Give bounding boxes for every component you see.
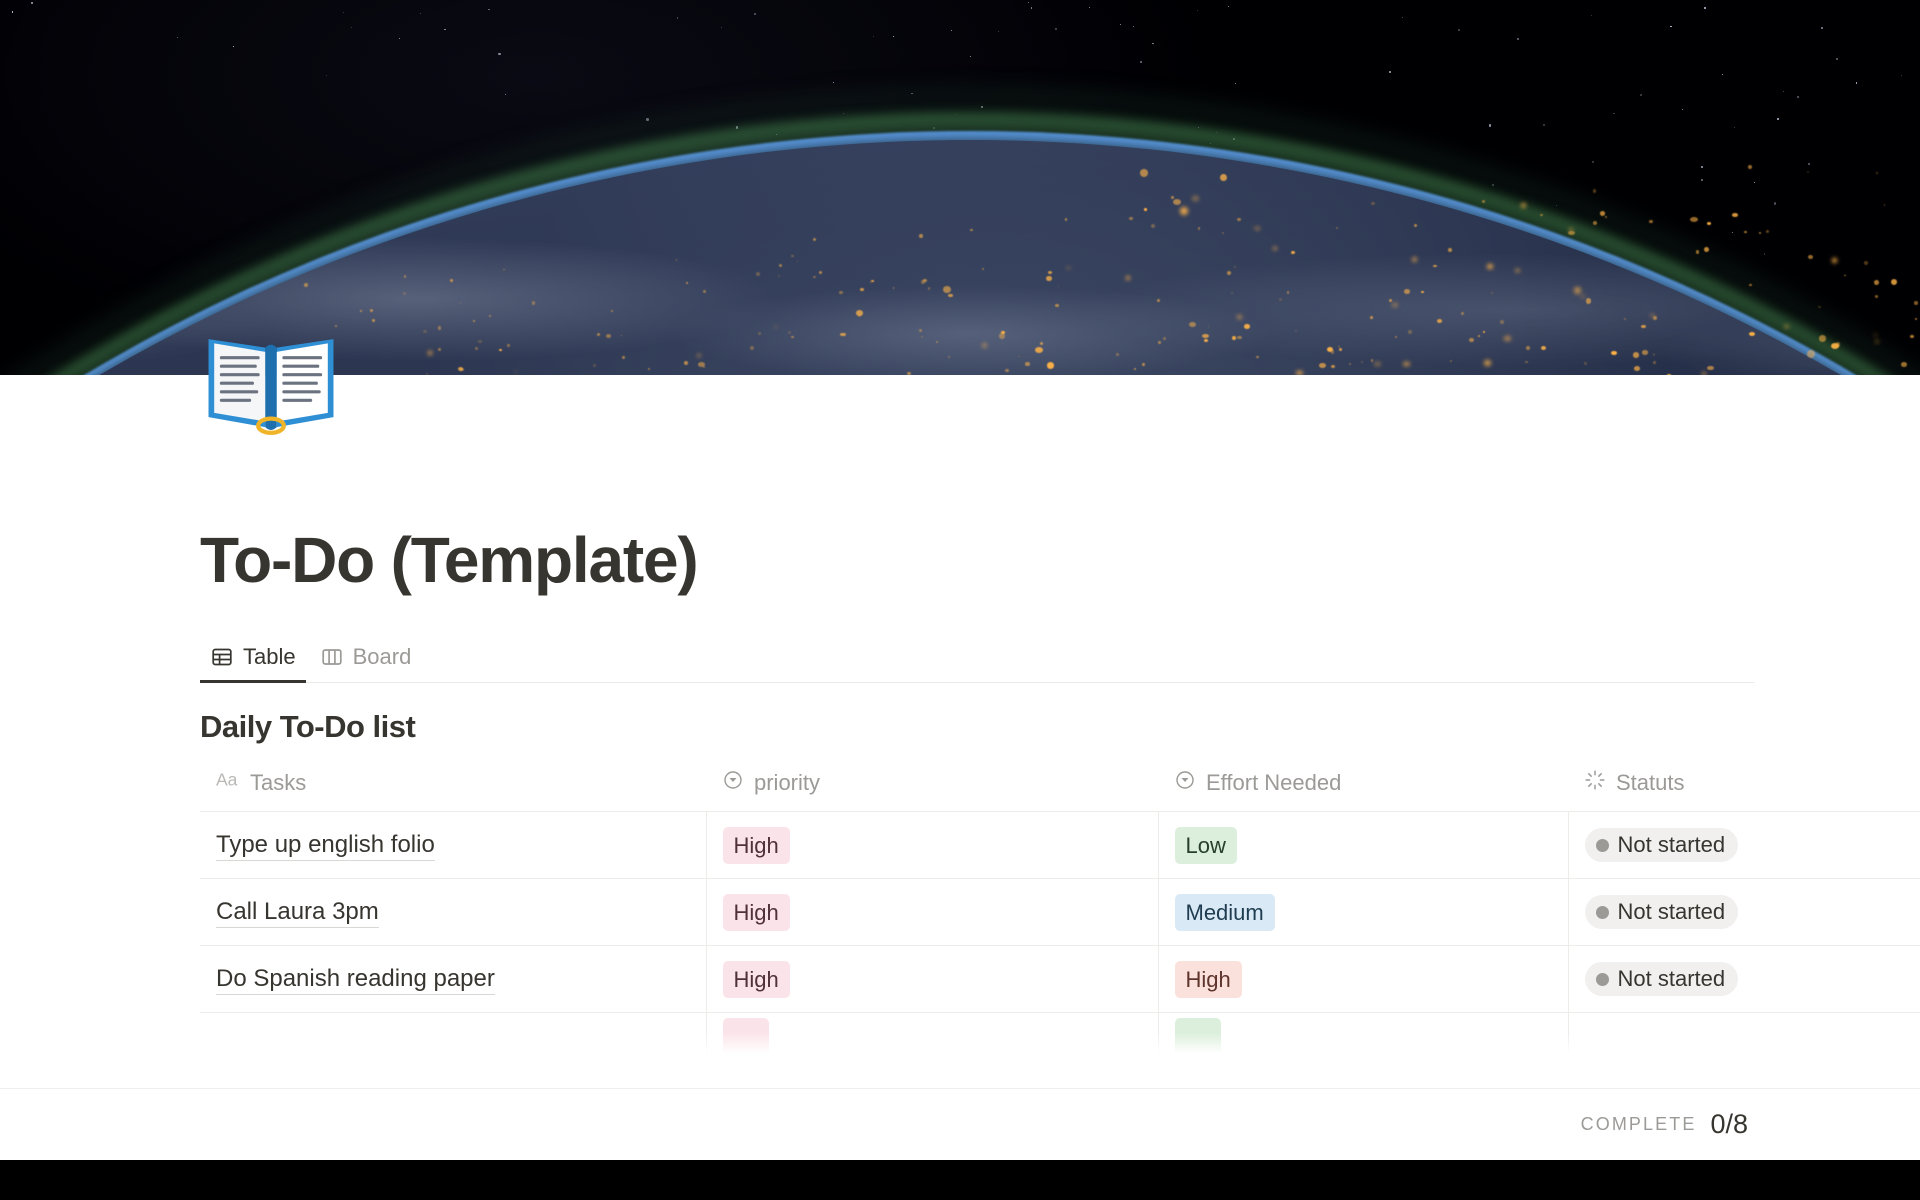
cell-effort[interactable]: Medium [1158,879,1568,946]
status-label: Not started [1618,832,1726,858]
notion-page: To-Do (Template) Table [0,0,1920,1200]
cell-task[interactable]: Call Laura 3pm [200,879,706,946]
column-header-tasks-label: Tasks [250,770,306,796]
open-book-emoji-glyph [200,305,342,447]
complete-label: COMPLETE [1581,1114,1697,1135]
cell-priority[interactable]: High [706,812,1158,879]
tab-board[interactable]: Board [310,638,422,682]
table-row[interactable]: Type up english folio High Low [200,812,1920,879]
viewport-letterbox [0,1160,1920,1200]
status-label: Not started [1618,966,1726,992]
column-header-priority[interactable]: priority [706,761,1158,812]
task-link[interactable]: Do Spanish reading paper [216,965,495,995]
column-header-tasks[interactable]: Aa Tasks [200,761,706,812]
table-header-row: Aa Tasks [200,761,1920,812]
column-header-statuts[interactable]: Statuts [1568,761,1920,812]
database-title[interactable]: Daily To-Do list [200,709,1755,745]
effort-chip: Low [1175,827,1237,864]
cell-effort[interactable]: Low [1158,812,1568,879]
column-header-effort-label: Effort Needed [1206,770,1341,796]
select-icon [722,769,744,797]
status-dot-icon [1596,906,1609,919]
database-table: Aa Tasks [200,761,1920,1059]
status-badge: Not started [1585,962,1739,996]
cell-priority[interactable] [706,1013,1158,1059]
status-spinner-icon [1584,769,1606,797]
tab-table[interactable]: Table [200,638,306,682]
effort-chip: Medium [1175,894,1275,931]
cell-effort[interactable]: High [1158,946,1568,1013]
table-row[interactable] [200,1013,1920,1059]
column-header-priority-label: priority [754,770,820,796]
complete-count: 0/8 [1710,1109,1748,1140]
priority-chip: High [723,827,790,864]
cell-priority[interactable]: High [706,879,1158,946]
cell-status[interactable]: Not started [1568,879,1920,946]
cell-task[interactable] [200,1013,706,1059]
priority-chip: High [723,894,790,931]
effort-chip: High [1175,961,1242,998]
status-dot-icon [1596,839,1609,852]
select-icon [1174,769,1196,797]
cell-effort[interactable] [1158,1013,1568,1059]
cell-task[interactable]: Do Spanish reading paper [200,946,706,1013]
cell-priority[interactable]: High [706,946,1158,1013]
tab-table-label: Table [243,644,296,670]
cell-status[interactable]: Not started [1568,812,1920,879]
priority-chip [723,1018,769,1055]
status-badge: Not started [1585,895,1739,929]
priority-chip: High [723,961,790,998]
view-tabs: Table Board [200,631,1755,683]
status-dot-icon [1596,973,1609,986]
table-icon [210,645,234,669]
title-text-icon: Aa [216,770,240,796]
complete-status-bar: COMPLETE 0/8 [0,1088,1920,1160]
cell-task[interactable]: Type up english folio [200,812,706,879]
table-row[interactable]: Call Laura 3pm High Medium [200,879,1920,946]
table-row[interactable]: Do Spanish reading paper High High [200,946,1920,1013]
board-icon [320,645,344,669]
column-header-effort-needed[interactable]: Effort Needed [1158,761,1568,812]
task-link[interactable]: Type up english folio [216,831,435,861]
page-content: To-Do (Template) Table [0,375,1920,1059]
database-table-wrapper: Aa Tasks [200,761,1920,1059]
column-header-statuts-label: Statuts [1616,770,1684,796]
effort-chip [1175,1018,1221,1055]
page-title[interactable]: To-Do (Template) [200,525,1755,595]
svg-text:Aa: Aa [216,770,238,790]
cell-status[interactable]: Not started [1568,946,1920,1013]
open-book-icon[interactable] [200,305,342,447]
cell-status[interactable] [1568,1013,1920,1059]
tab-board-label: Board [353,644,412,670]
status-badge: Not started [1585,828,1739,862]
status-label: Not started [1618,899,1726,925]
task-link[interactable]: Call Laura 3pm [216,898,379,928]
